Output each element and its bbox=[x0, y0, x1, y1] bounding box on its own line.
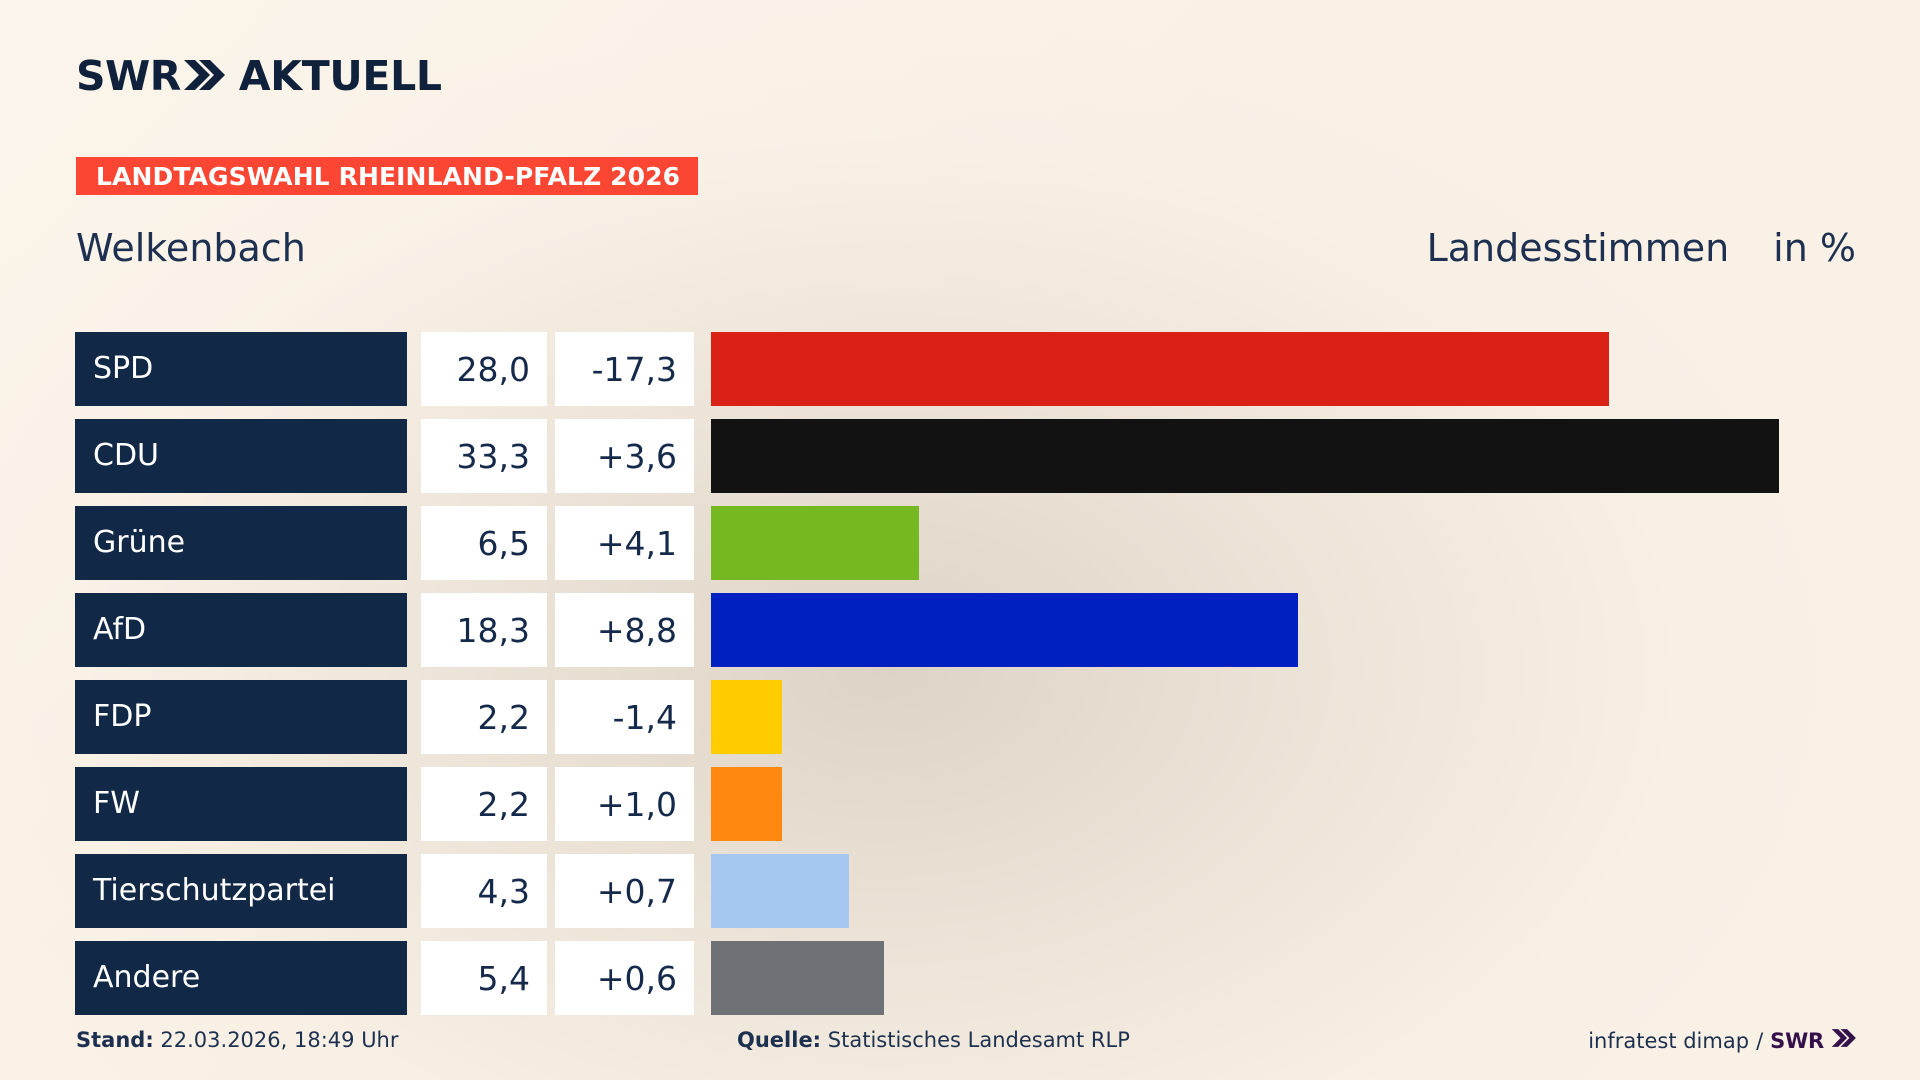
party-name: Grüne bbox=[93, 528, 185, 558]
result-bar bbox=[711, 854, 849, 928]
result-value-cell: 2,2 bbox=[421, 767, 547, 841]
logo-swr-text: SWR bbox=[76, 56, 181, 97]
result-delta: +4,1 bbox=[597, 527, 677, 560]
table-row: Andere5,4+0,6 bbox=[75, 941, 1920, 1015]
results-table: SPD28,0-17,3CDU33,3+3,6Grüne6,5+4,1AfD18… bbox=[75, 332, 1920, 1028]
footer: Stand: 22.03.2026, 18:49 Uhr Quelle: Sta… bbox=[0, 1028, 1920, 1068]
party-label-cell: CDU bbox=[75, 419, 407, 493]
party-label-cell: Grüne bbox=[75, 506, 407, 580]
result-value: 2,2 bbox=[478, 701, 530, 734]
double-chevron-right-icon bbox=[1831, 1028, 1856, 1053]
table-row: AfD18,3+8,8 bbox=[75, 593, 1920, 667]
logo-aktuell-text: AKTUELL bbox=[239, 56, 442, 97]
result-value: 2,2 bbox=[478, 788, 530, 821]
result-delta: -1,4 bbox=[613, 701, 677, 734]
result-value-cell: 2,2 bbox=[421, 680, 547, 754]
result-bar bbox=[711, 332, 1609, 406]
result-delta-cell: +4,1 bbox=[555, 506, 694, 580]
result-delta-cell: +0,7 bbox=[555, 854, 694, 928]
result-delta-cell: +8,8 bbox=[555, 593, 694, 667]
infographic-root: SWR AKTUELL LANDTAGSWAHL RHEINLAND-PFALZ… bbox=[0, 0, 1920, 1080]
result-bar bbox=[711, 680, 782, 754]
party-name: CDU bbox=[93, 441, 159, 471]
election-banner-text: LANDTAGSWAHL RHEINLAND-PFALZ 2026 bbox=[96, 164, 680, 189]
table-row: FW2,2+1,0 bbox=[75, 767, 1920, 841]
party-name: FW bbox=[93, 789, 140, 819]
result-delta-cell: +0,6 bbox=[555, 941, 694, 1015]
double-chevron-right-icon bbox=[183, 58, 225, 96]
credit-broadcaster: SWR bbox=[1770, 1029, 1824, 1053]
result-bar bbox=[711, 593, 1298, 667]
swr-aktuell-logo: SWR AKTUELL bbox=[76, 56, 442, 97]
result-bar bbox=[711, 767, 782, 841]
result-value-cell: 33,3 bbox=[421, 419, 547, 493]
result-bar bbox=[711, 941, 884, 1015]
table-row: SPD28,0-17,3 bbox=[75, 332, 1920, 406]
stand-value: 22.03.2026, 18:49 Uhr bbox=[160, 1028, 398, 1052]
result-value: 5,4 bbox=[478, 962, 530, 995]
result-delta: +3,6 bbox=[597, 440, 677, 473]
result-value-cell: 5,4 bbox=[421, 941, 547, 1015]
result-delta-cell: -17,3 bbox=[555, 332, 694, 406]
result-value: 6,5 bbox=[478, 527, 530, 560]
party-label-cell: FW bbox=[75, 767, 407, 841]
header-right-labels: Landesstimmen in % bbox=[1427, 225, 1856, 273]
party-name: Andere bbox=[93, 963, 200, 993]
quelle-value: Statistisches Landesamt RLP bbox=[828, 1028, 1130, 1052]
table-row: Tierschutzpartei4,3+0,7 bbox=[75, 854, 1920, 928]
party-label-cell: SPD bbox=[75, 332, 407, 406]
result-delta: -17,3 bbox=[592, 353, 677, 386]
party-label-cell: AfD bbox=[75, 593, 407, 667]
credit-agency: infratest dimap bbox=[1588, 1029, 1749, 1053]
party-label-cell: Tierschutzpartei bbox=[75, 854, 407, 928]
source-info: Quelle: Statistisches Landesamt RLP bbox=[737, 1028, 1130, 1052]
result-value: 33,3 bbox=[457, 440, 530, 473]
result-delta: +1,0 bbox=[597, 788, 677, 821]
vote-type-label: Landesstimmen bbox=[1427, 225, 1730, 273]
result-value-cell: 4,3 bbox=[421, 854, 547, 928]
party-name: AfD bbox=[93, 615, 146, 645]
party-label-cell: FDP bbox=[75, 680, 407, 754]
result-value-cell: 6,5 bbox=[421, 506, 547, 580]
table-row: Grüne6,5+4,1 bbox=[75, 506, 1920, 580]
page-title: Welkenbach bbox=[76, 225, 306, 273]
result-bar bbox=[711, 506, 919, 580]
result-delta: +0,7 bbox=[597, 875, 677, 908]
result-delta: +8,8 bbox=[597, 614, 677, 647]
quelle-label: Quelle: bbox=[737, 1028, 821, 1052]
result-value: 4,3 bbox=[478, 875, 530, 908]
result-value-cell: 18,3 bbox=[421, 593, 547, 667]
table-row: CDU33,3+3,6 bbox=[75, 419, 1920, 493]
party-label-cell: Andere bbox=[75, 941, 407, 1015]
result-delta: +0,6 bbox=[597, 962, 677, 995]
credit-info: infratest dimap / SWR bbox=[1588, 1028, 1856, 1053]
table-row: FDP2,2-1,4 bbox=[75, 680, 1920, 754]
party-name: Tierschutzpartei bbox=[93, 876, 336, 906]
stand-info: Stand: 22.03.2026, 18:49 Uhr bbox=[76, 1028, 399, 1052]
result-delta-cell: +1,0 bbox=[555, 767, 694, 841]
result-value: 28,0 bbox=[457, 353, 530, 386]
result-delta-cell: +3,6 bbox=[555, 419, 694, 493]
unit-label: in % bbox=[1773, 225, 1856, 273]
party-name: FDP bbox=[93, 702, 151, 732]
result-value-cell: 28,0 bbox=[421, 332, 547, 406]
result-bar bbox=[711, 419, 1779, 493]
result-value: 18,3 bbox=[457, 614, 530, 647]
credit-separator: / bbox=[1756, 1029, 1763, 1053]
stand-label: Stand: bbox=[76, 1028, 154, 1052]
election-banner: LANDTAGSWAHL RHEINLAND-PFALZ 2026 bbox=[76, 157, 698, 195]
party-name: SPD bbox=[93, 354, 153, 384]
result-delta-cell: -1,4 bbox=[555, 680, 694, 754]
